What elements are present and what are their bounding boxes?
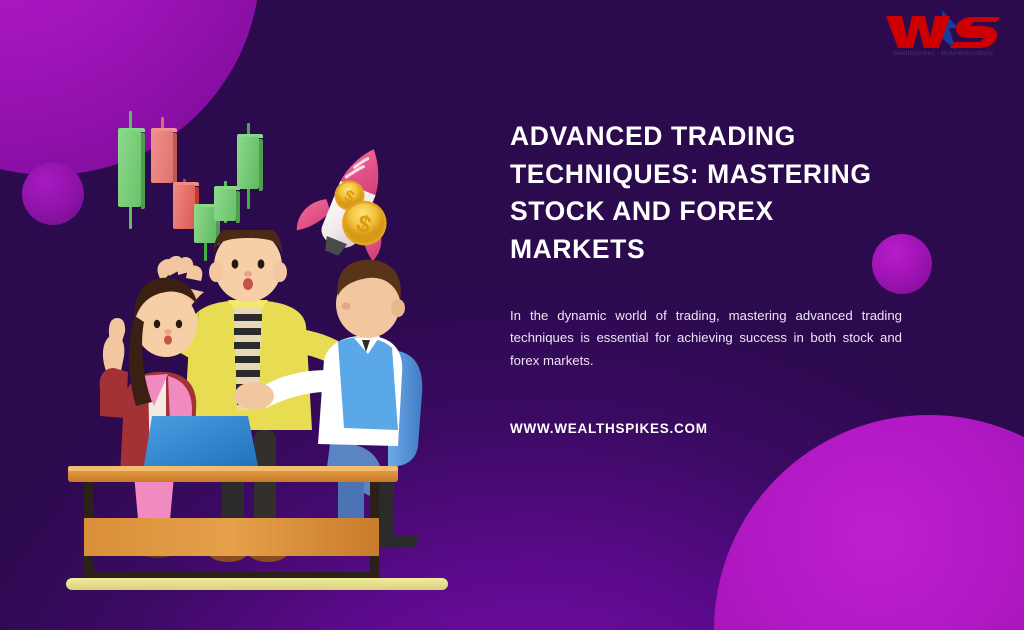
platform-base xyxy=(66,578,448,590)
decorative-circle-top-left-small xyxy=(22,163,84,225)
decorative-circle-bottom-right xyxy=(714,415,1024,630)
website-url[interactable]: WWW.WEALTHSPIKES.COM xyxy=(510,421,902,436)
team-scene-icon xyxy=(62,230,462,590)
logo-tagline: WealthSpikes - MakeMoneyDaily xyxy=(880,50,1006,57)
laptop xyxy=(140,416,262,474)
content-block: ADVANCED TRADING TECHNIQUES: MASTERING S… xyxy=(510,118,902,436)
wealthspikes-logo[interactable]: WealthSpikes - MakeMoneyDaily xyxy=(880,8,1006,66)
description-text: In the dynamic world of trading, masteri… xyxy=(510,305,902,373)
page-title: ADVANCED TRADING TECHNIQUES: MASTERING S… xyxy=(510,118,902,269)
marketing-banner: WealthSpikes - MakeMoneyDaily xyxy=(0,0,1024,630)
logo-mark xyxy=(880,8,1006,52)
team-illustration xyxy=(62,230,462,590)
